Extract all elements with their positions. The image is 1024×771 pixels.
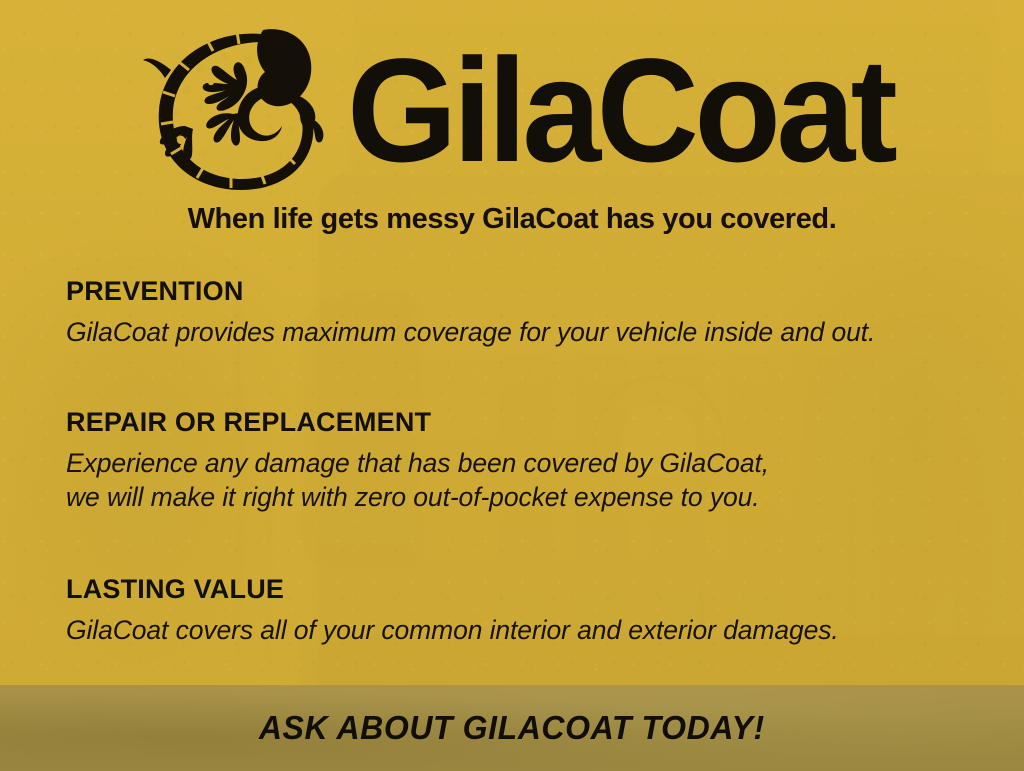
section-spacer — [66, 542, 984, 574]
benefit-body: GilaCoat provides maximum coverage for y… — [66, 316, 984, 349]
benefit-body-line: GilaCoat provides maximum coverage for y… — [66, 316, 984, 349]
benefit-section-lasting-value: LASTING VALUE GilaCoat covers all of you… — [66, 574, 984, 647]
benefit-body-line: GilaCoat covers all of your common inter… — [66, 614, 984, 647]
benefits-list: PREVENTION GilaCoat provides maximum cov… — [66, 276, 984, 648]
advertisement-flyer: GilaCoat When life gets messy GilaCoat h… — [0, 0, 1024, 771]
brand-wordmark: GilaCoat — [347, 34, 893, 182]
benefit-body-line: Experience any damage that has been cove… — [66, 447, 984, 480]
footer-cta-band[interactable]: ASK ABOUT GILACOAT TODAY! — [0, 685, 1024, 771]
brand-lockup: GilaCoat — [0, 18, 1024, 198]
benefit-heading: REPAIR OR REPLACEMENT — [66, 407, 984, 438]
brand-tagline: When life gets messy GilaCoat has you co… — [0, 203, 1024, 236]
benefit-section-repair-or-replacement: REPAIR OR REPLACEMENT Experience any dam… — [66, 407, 984, 514]
ad-content: GilaCoat When life gets messy GilaCoat h… — [0, 0, 1024, 771]
section-spacer — [66, 377, 984, 407]
benefit-heading: PREVENTION — [66, 276, 984, 307]
benefit-body: Experience any damage that has been cove… — [66, 447, 984, 514]
benefit-heading: LASTING VALUE — [66, 574, 984, 605]
benefit-body: GilaCoat covers all of your common inter… — [66, 614, 984, 647]
benefit-section-prevention: PREVENTION GilaCoat provides maximum cov… — [66, 276, 984, 349]
footer-cta-text: ASK ABOUT GILACOAT TODAY! — [259, 709, 765, 747]
benefit-body-line: we will make it right with zero out-of-p… — [66, 481, 984, 514]
gila-monster-logo-icon — [141, 18, 341, 198]
